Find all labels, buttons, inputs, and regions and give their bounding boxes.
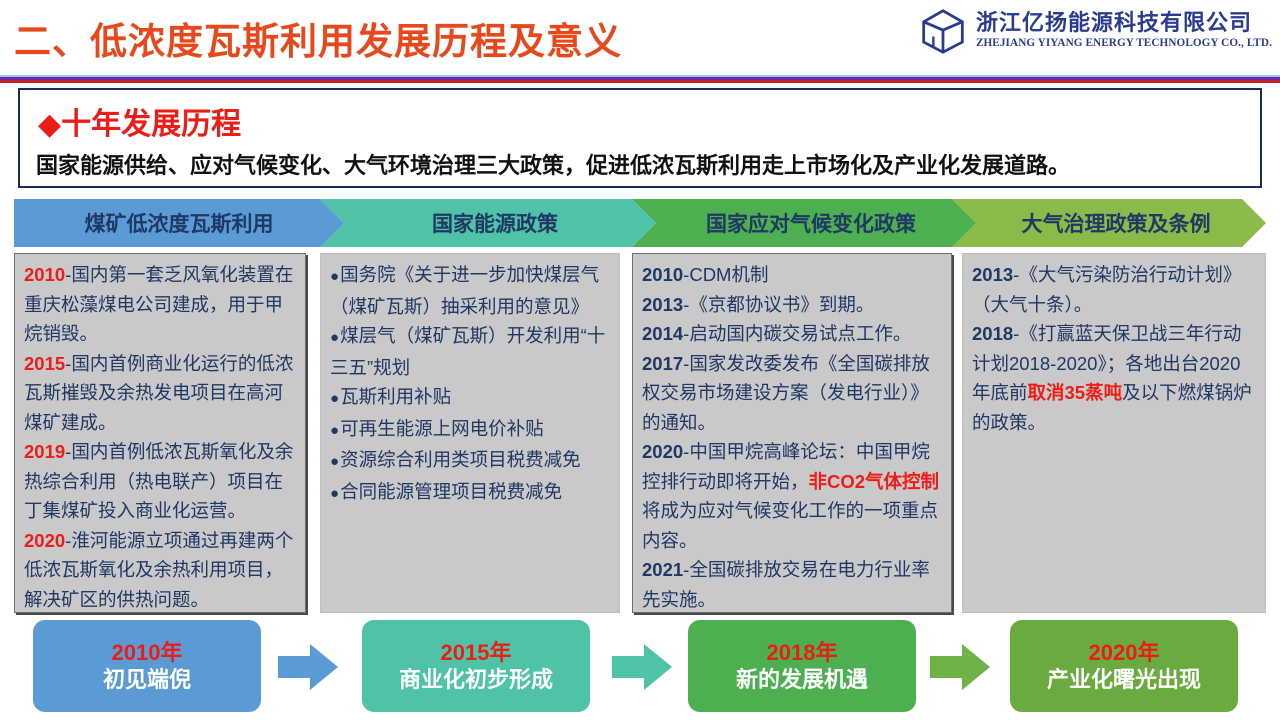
headline-title: ◆十年发展历程 (38, 99, 241, 143)
milestone-label: 初见端倪 (103, 666, 191, 694)
entry-year: 2013 (972, 264, 1013, 285)
milestone-box-3[interactable]: 2018年新的发展机遇 (688, 620, 916, 712)
entry-highlight: 取消35蒸吨 (1028, 382, 1123, 403)
timeline-entry: 2019-国内首例低浓瓦斯氧化及余热综合利用（热电联产）项目在丁集煤矿投入商业化… (24, 437, 296, 526)
headline-box: ◆十年发展历程 国家能源供给、应对气候变化、大气环境治理三大政策，促进低浓瓦斯利… (18, 88, 1262, 188)
bullet-item: 国务院《关于进一步加快煤层气（煤矿瓦斯）抽采利用的意见》 (330, 260, 610, 321)
milestone-row: 2010年初见端倪2015年商业化初步形成2018年新的发展机遇2020年产业化… (0, 620, 1280, 720)
entry-year: 2015 (24, 353, 65, 374)
bullet-label: 合同能源管理项目税费减免 (340, 481, 562, 502)
entry-year: 2010 (24, 264, 65, 285)
entry-year: 2017 (642, 353, 683, 374)
chevron-1[interactable]: 煤矿低浓度瓦斯利用 (14, 199, 344, 247)
milestone-box-1[interactable]: 2010年初见端倪 (33, 620, 261, 712)
timeline-entry: 2017-国家发改委发布《全国碳排放权交易市场建设方案（发电行业）》的通知。 (642, 349, 942, 438)
timeline-entry: 2015-国内首例商业化运行的低浓瓦斯摧毁及余热发电项目在高河煤矿建成。 (24, 349, 296, 438)
entry-year: 2018 (972, 323, 1013, 344)
entry-year: 2010 (642, 264, 683, 285)
milestone-arrow-1 (278, 642, 338, 692)
chevron-label: 国家应对气候变化政策 (706, 208, 916, 238)
entry-text: CDM机制 (689, 264, 768, 285)
bullet-label: 瓦斯利用补贴 (340, 386, 451, 407)
chevron-4[interactable]: 大气治理政策及条例 (952, 199, 1266, 247)
milestone-arrow-2 (612, 642, 672, 692)
chevron-label: 国家能源政策 (432, 208, 558, 238)
header-accent-band (0, 75, 1280, 83)
accent-band-line-3 (0, 80, 1280, 83)
bullet-item: 可再生能源上网电价补贴 (330, 414, 610, 446)
hexagon-cube-logo-icon (920, 8, 966, 54)
timeline-entry: 2010-CDM机制 (642, 260, 942, 290)
milestone-box-2[interactable]: 2015年商业化初步形成 (362, 620, 590, 712)
entry-text: 《大气污染防治行动计划》（大气十条）。 (972, 264, 1241, 315)
headline-subtitle: 国家能源供给、应对气候变化、大气环境治理三大政策，促进低浓瓦斯利用走上市场化及产… (36, 148, 1070, 180)
entry-text-post: 将成为应对气候变化工作的一项重点内容。 (642, 500, 938, 551)
company-name-cn: 浙江亿扬能源科技有限公司 (976, 11, 1272, 35)
entry-text: 全国碳排放交易在电力行业率先实施。 (642, 559, 930, 610)
bullet-item: 煤层气（煤矿瓦斯）开发利用“十三五”规划 (330, 321, 610, 382)
milestone-year: 2010年 (112, 639, 183, 667)
milestone-label: 产业化曙光出现 (1047, 666, 1201, 694)
bullet-label: 煤层气（煤矿瓦斯）开发利用“十三五”规划 (330, 325, 605, 378)
chevron-banner-row: 煤矿低浓度瓦斯利用国家能源政策国家应对气候变化政策大气治理政策及条例 (14, 199, 1266, 247)
timeline-entry: 2010-国内第一套乏风氧化装置在重庆松藻煤电公司建成，用于甲烷销毁。 (24, 260, 296, 349)
company-name-block: 浙江亿扬能源科技有限公司 ZHEJIANG YIYANG ENERGY TECH… (976, 11, 1272, 51)
chevron-label: 煤矿低浓度瓦斯利用 (85, 208, 274, 238)
milestone-year: 2015年 (441, 639, 512, 667)
chevron-3[interactable]: 国家应对气候变化政策 (632, 199, 976, 247)
entry-text: 国家发改委发布《全国碳排放权交易市场建设方案（发电行业）》的通知。 (642, 353, 930, 433)
entry-year: 2020 (642, 441, 683, 462)
timeline-entry: 2020-淮河能源立项通过再建两个低浓瓦斯氧化及余热利用项目，解决矿区的供热问题… (24, 526, 296, 614)
entry-text: 淮河能源立项通过再建两个低浓瓦斯氧化及余热利用项目，解决矿区的供热问题。 (24, 530, 293, 610)
chevron-2[interactable]: 国家能源政策 (320, 199, 656, 247)
milestone-box-4[interactable]: 2020年产业化曙光出现 (1010, 620, 1238, 712)
entry-year: 2019 (24, 441, 65, 462)
bullet-item: 合同能源管理项目税费减免 (330, 477, 610, 509)
timeline-entry: 2014-启动国内碳交易试点工作。 (642, 319, 942, 349)
timeline-entry: 2021-全国碳排放交易在电力行业率先实施。 (642, 555, 942, 613)
content-columns: 2010-国内第一套乏风氧化装置在重庆松藻煤电公司建成，用于甲烷销毁。2015-… (14, 253, 1266, 613)
bullet-item: 瓦斯利用补贴 (330, 382, 610, 414)
bullet-label: 资源综合利用类项目税费减免 (340, 449, 581, 470)
timeline-entry: 2018-《打赢蓝天保卫战三年行动计划2018-2020》；各地出台2020年底… (972, 319, 1256, 437)
chevron-label: 大气治理政策及条例 (1022, 208, 1211, 238)
column-coal-mine-low-concentration-gas-utilization: 2010-国内第一套乏风氧化装置在重庆松藻煤电公司建成，用于甲烷销毁。2015-… (14, 253, 306, 613)
entry-text: 《京都协议书》到期。 (689, 294, 874, 315)
page-title: 二、低浓度瓦斯利用发展历程及意义 (14, 11, 622, 65)
bullet-label: 国务院《关于进一步加快煤层气（煤矿瓦斯）抽采利用的意见》 (330, 264, 599, 317)
milestone-label: 商业化初步形成 (399, 666, 553, 694)
milestone-arrow-3 (930, 642, 990, 692)
column-national-energy-policy: 国务院《关于进一步加快煤层气（煤矿瓦斯）抽采利用的意见》煤层气（煤矿瓦斯）开发利… (320, 253, 620, 613)
company-logo-block: 浙江亿扬能源科技有限公司 ZHEJIANG YIYANG ENERGY TECH… (920, 8, 1272, 54)
entry-text: 国内首例低浓瓦斯氧化及余热综合利用（热电联产）项目在丁集煤矿投入商业化运营。 (24, 441, 293, 521)
company-name-en: ZHEJIANG YIYANG ENERGY TECHNOLOGY CO., L… (976, 37, 1272, 50)
entry-year: 2021 (642, 559, 683, 580)
entry-highlight: 非CO2气体控制 (809, 471, 940, 492)
milestone-year: 2018年 (767, 639, 838, 667)
column-national-climate-change-policy: 2010-CDM机制2013-《京都协议书》到期。2014-启动国内碳交易试点工… (632, 253, 952, 613)
entry-year: 2020 (24, 530, 65, 551)
milestone-year: 2020年 (1089, 639, 1160, 667)
entry-year: 2014 (642, 323, 683, 344)
timeline-entry: 2013-《京都协议书》到期。 (642, 290, 942, 320)
entry-text: 启动国内碳交易试点工作。 (689, 323, 911, 344)
entry-text: 国内首例商业化运行的低浓瓦斯摧毁及余热发电项目在高河煤矿建成。 (24, 353, 293, 433)
timeline-entry: 2013-《大气污染防治行动计划》（大气十条）。 (972, 260, 1256, 319)
entry-year: 2013 (642, 294, 683, 315)
milestone-label: 新的发展机遇 (736, 666, 868, 694)
timeline-entry: 2020-中国甲烷高峰论坛：中国甲烷控排行动即将开始，非CO2气体控制将成为应对… (642, 437, 942, 555)
column-air-pollution-control-policy: 2013-《大气污染防治行动计划》（大气十条）。2018-《打赢蓝天保卫战三年行… (962, 253, 1266, 613)
bullet-label: 可再生能源上网电价补贴 (340, 418, 544, 439)
slide-header: 二、低浓度瓦斯利用发展历程及意义 浙江亿扬能源科技有限公司 ZHEJIANG Y… (0, 0, 1280, 75)
entry-text: 国内第一套乏风氧化装置在重庆松藻煤电公司建成，用于甲烷销毁。 (24, 264, 293, 344)
bullet-item: 资源综合利用类项目税费减免 (330, 445, 610, 477)
